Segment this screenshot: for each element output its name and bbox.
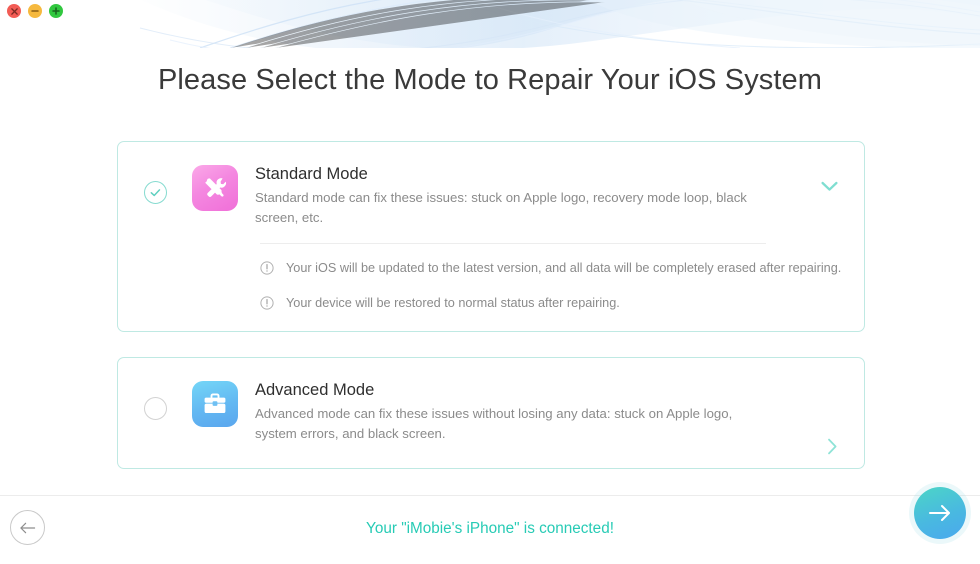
mode-list: Standard Mode Standard mode can fix thes… bbox=[117, 141, 865, 469]
info-exclamation-icon bbox=[260, 296, 274, 310]
mode-name-advanced: Advanced Mode bbox=[255, 379, 804, 401]
note-row: Your iOS will be updated to the latest v… bbox=[260, 260, 864, 277]
next-arrow-icon bbox=[927, 503, 953, 523]
tools-icon bbox=[192, 165, 238, 211]
page-title: Please Select the Mode to Repair Your iO… bbox=[0, 64, 980, 97]
toolbox-icon bbox=[192, 381, 238, 427]
header-wave-banner bbox=[0, 0, 980, 48]
next-button[interactable] bbox=[914, 487, 966, 539]
chevron-right-icon[interactable] bbox=[827, 438, 838, 455]
radio-wrap-standard bbox=[118, 163, 192, 204]
radio-wrap-advanced bbox=[118, 379, 192, 420]
info-exclamation-icon bbox=[260, 261, 274, 275]
note-text: Your iOS will be updated to the latest v… bbox=[286, 260, 841, 277]
mode-description-standard: Standard mode can fix these issues: stuc… bbox=[255, 188, 755, 228]
close-window-button[interactable] bbox=[7, 4, 21, 18]
mode-card-advanced[interactable]: Advanced Mode Advanced mode can fix thes… bbox=[117, 357, 865, 469]
chevron-down-icon[interactable] bbox=[821, 181, 838, 192]
mode-name-standard: Standard Mode bbox=[255, 163, 804, 185]
check-icon bbox=[149, 186, 162, 199]
mode-description-advanced: Advanced mode can fix these issues witho… bbox=[255, 404, 755, 444]
window-controls bbox=[7, 4, 63, 18]
radio-advanced-unselected[interactable] bbox=[144, 397, 167, 420]
note-row: Your device will be restored to normal s… bbox=[260, 295, 864, 312]
note-text: Your device will be restored to normal s… bbox=[286, 295, 620, 312]
mode-card-standard[interactable]: Standard Mode Standard mode can fix thes… bbox=[117, 141, 865, 332]
minimize-window-button[interactable] bbox=[28, 4, 42, 18]
standard-notes: Your iOS will be updated to the latest v… bbox=[118, 244, 864, 330]
radio-standard-selected[interactable] bbox=[144, 181, 167, 204]
maximize-window-button[interactable] bbox=[49, 4, 63, 18]
footer-bar: Your "iMobie's iPhone" is connected! bbox=[0, 496, 980, 564]
device-status-text: Your "iMobie's iPhone" is connected! bbox=[0, 520, 980, 538]
